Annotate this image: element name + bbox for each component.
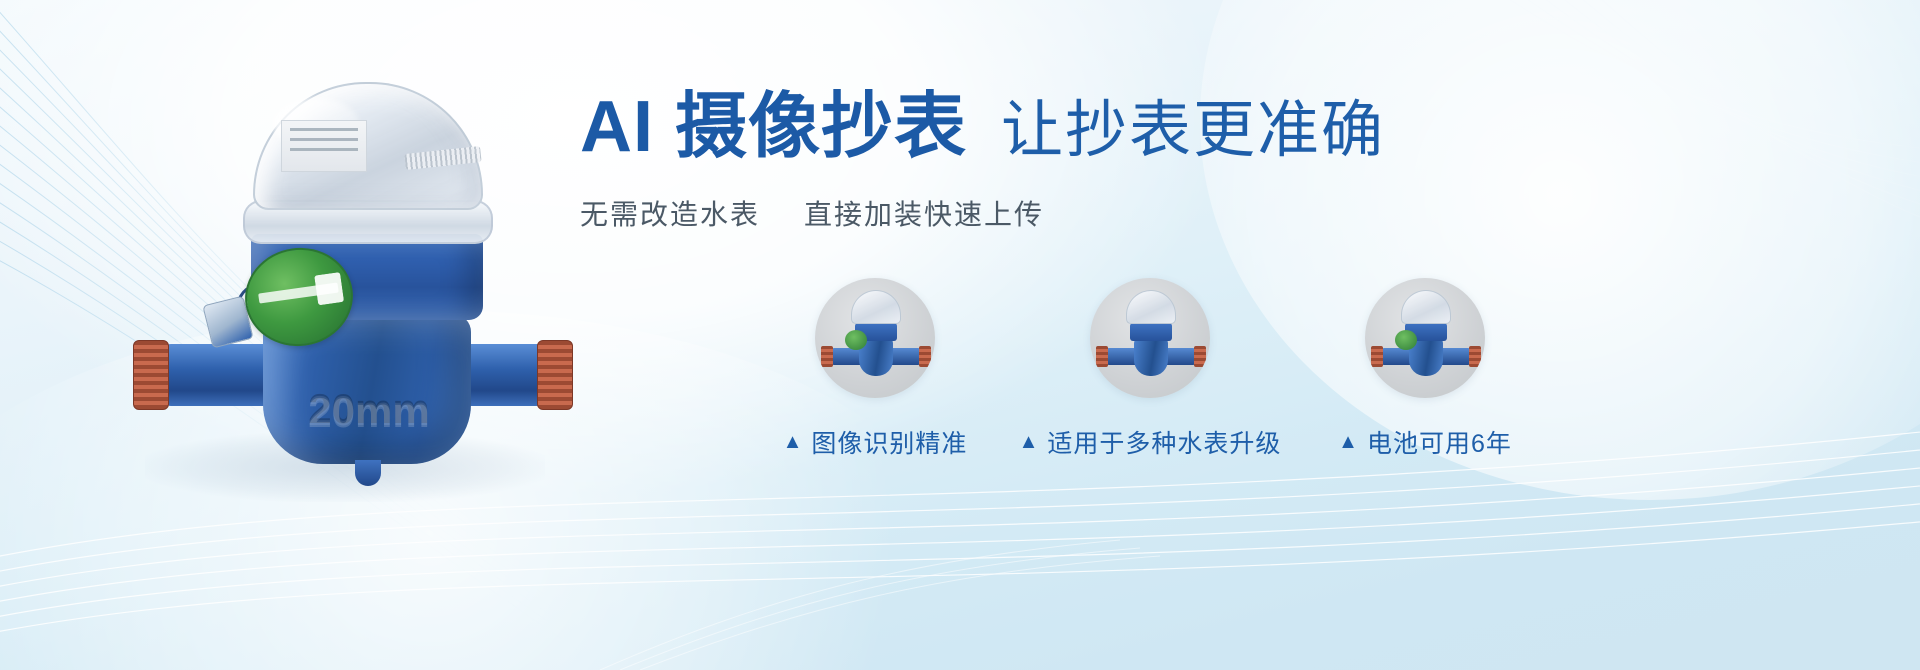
headline: AI 摄像抄表 让抄表更准确 — [580, 88, 1870, 167]
triangle-marker-icon: ▲ — [1019, 432, 1040, 452]
mini-thread-right — [1469, 346, 1481, 367]
feature-caption-text: 图像识别精准 — [811, 424, 967, 460]
meter-thread-right — [537, 340, 573, 410]
triangle-marker-icon: ▲ — [783, 432, 804, 452]
headline-secondary: 让抄表更准确 — [1001, 97, 1385, 165]
feature-caption: ▲ 图像识别精准 — [783, 424, 968, 460]
label-line — [290, 148, 358, 151]
label-line — [290, 138, 358, 141]
meter-thread-left — [133, 340, 169, 410]
feature-list: ▲ 图像识别精准 ▲ 适用于多种水表升级 — [760, 278, 1540, 460]
mini-seal — [1395, 330, 1417, 350]
mini-thread-right — [919, 346, 931, 367]
feature-item-image-recognition[interactable]: ▲ 图像识别精准 — [760, 278, 990, 460]
feature-caption-text: 电池可用6年 — [1367, 424, 1512, 460]
mini-seal — [845, 330, 867, 350]
mini-body — [1134, 338, 1168, 376]
mini-thread-right — [1194, 346, 1206, 367]
water-meter-thumb-icon — [815, 278, 935, 398]
promo-banner: 20mm AI 摄像抄表 让抄表更准确 无需改造水表 直接加装快速上传 — [0, 0, 1920, 670]
meter-pipe-left — [163, 344, 271, 406]
headline-primary: AI 摄像抄表 — [580, 88, 967, 167]
triangle-marker-icon: ▲ — [1338, 432, 1359, 452]
feature-item-battery-life[interactable]: ▲ 电池可用6年 — [1310, 278, 1540, 460]
feature-item-multi-meter-upgrade[interactable]: ▲ 适用于多种水表升级 — [1035, 278, 1265, 460]
mini-thread-left — [1371, 346, 1383, 367]
feature-caption-text: 适用于多种水表升级 — [1047, 424, 1281, 460]
subtitle: 无需改造水表 直接加装快速上传 — [580, 193, 1870, 233]
subtitle-part-1: 无需改造水表 — [580, 193, 760, 233]
feature-caption: ▲ 电池可用6年 — [1338, 424, 1512, 460]
product-photo-water-meter: 20mm — [85, 72, 585, 512]
label-line — [290, 128, 358, 131]
meter-spec-label — [281, 120, 367, 172]
mini-collar — [1130, 323, 1172, 341]
mini-thread-left — [1096, 346, 1108, 367]
water-meter-thumb-icon — [1090, 278, 1210, 398]
mini-thread-left — [821, 346, 833, 367]
feature-caption: ▲ 适用于多种水表升级 — [1019, 424, 1282, 460]
mini-dome — [1126, 290, 1176, 324]
mini-dome — [1401, 290, 1451, 324]
meter-size-emboss: 20mm — [291, 386, 447, 436]
meter-bottom-drain — [355, 460, 381, 486]
subtitle-part-2: 直接加装快速上传 — [804, 193, 1044, 233]
text-column: AI 摄像抄表 让抄表更准确 无需改造水表 直接加装快速上传 — [580, 88, 1870, 233]
water-meter-thumb-icon — [1365, 278, 1485, 398]
mini-dome — [851, 290, 901, 324]
seal-stamp-char — [314, 272, 344, 305]
